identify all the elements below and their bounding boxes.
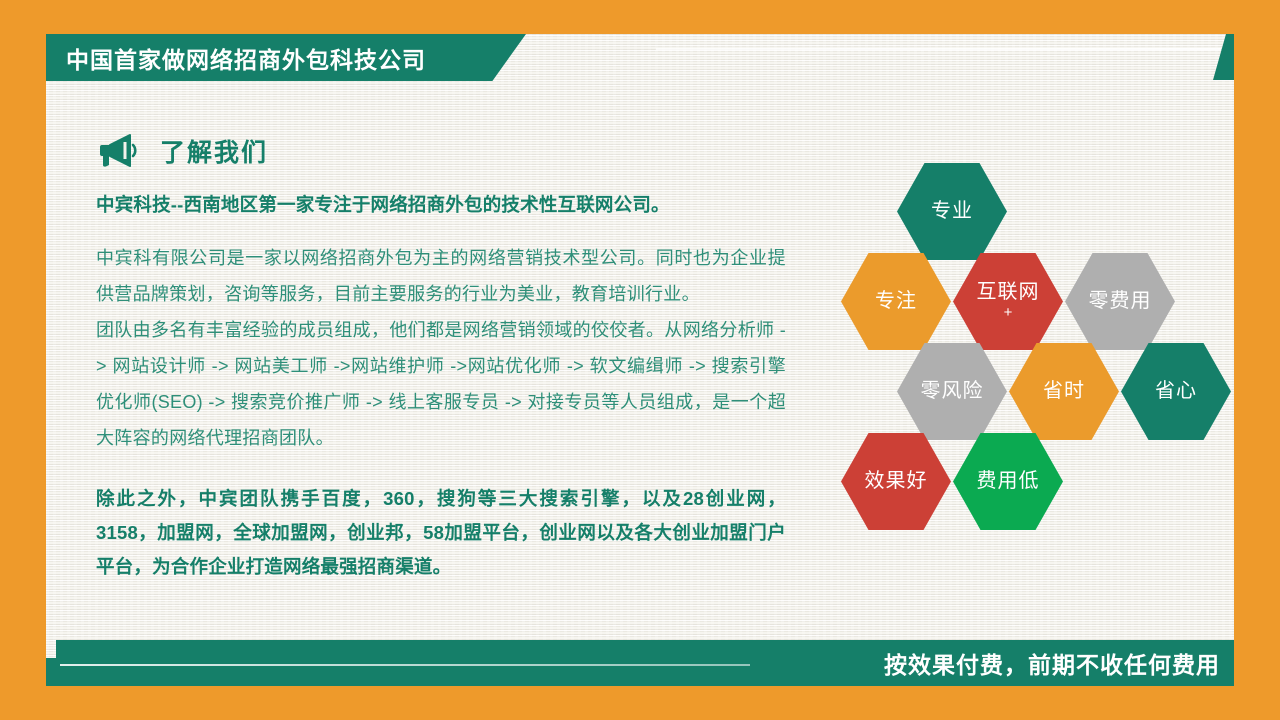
hexagon-2: 互联网+ bbox=[953, 253, 1063, 350]
hexagon-label: 费用低 bbox=[977, 471, 1040, 493]
lead-statement: 中宾科技--西南地区第一家专注于网络招商外包的技术性互联网公司。 bbox=[96, 192, 786, 218]
slide-root: 中国首家做网络招商外包科技公司 了解我们 中宾科技--西南地区第一家专注于网络招… bbox=[0, 0, 1280, 720]
hexagon-label: 省时 bbox=[1043, 381, 1085, 403]
hexagon-1: 专注 bbox=[841, 253, 951, 350]
hexagon-label: 专注 bbox=[875, 291, 917, 313]
hexagon-sublabel: + bbox=[1004, 305, 1013, 321]
hexagon-5: 省时 bbox=[1009, 343, 1119, 440]
footer-tagline: 按效果付费，前期不收任何费用 bbox=[884, 646, 1220, 680]
hexagon-label: 零风险 bbox=[921, 381, 984, 403]
paragraph-company-overview: 中宾科有限公司是一家以网络招商外包为主的网络营销技术型公司。同时也为企业提供营品… bbox=[96, 240, 786, 312]
hexagon-label: 效果好 bbox=[865, 471, 928, 493]
footer-hairline bbox=[60, 664, 750, 666]
hexagon-label: 专业 bbox=[931, 201, 973, 223]
hexagon-label: 省心 bbox=[1155, 381, 1197, 403]
advantage-hexagon-cluster: 专业专注互联网+零费用零风险省时省心效果好费用低 bbox=[836, 155, 1236, 535]
page-title: 中国首家做网络招商外包科技公司 bbox=[66, 41, 426, 75]
hexagon-label: 互联网 bbox=[977, 282, 1040, 304]
hexagon-4: 零风险 bbox=[897, 343, 1007, 440]
paragraph-partner-channels: 除此之外，中宾团队携手百度，360，搜狗等三大搜索引擎，以及28创业网，3158… bbox=[96, 482, 786, 584]
about-content: 中宾科技--西南地区第一家专注于网络招商外包的技术性互联网公司。 中宾科有限公司… bbox=[96, 192, 786, 584]
hexagon-3: 零费用 bbox=[1065, 253, 1175, 350]
megaphone-icon bbox=[94, 134, 138, 168]
header-hairline bbox=[656, 48, 1221, 50]
hexagon-7: 效果好 bbox=[841, 433, 951, 530]
section-heading: 了解我们 bbox=[94, 133, 268, 169]
hexagon-label: 零费用 bbox=[1089, 291, 1152, 313]
paragraph-team-composition: 团队由多名有丰富经验的成员组成，他们都是网络营销领域的佼佼者。从网络分析师 ->… bbox=[96, 312, 786, 456]
hexagon-0: 专业 bbox=[897, 163, 1007, 260]
section-title: 了解我们 bbox=[160, 133, 268, 169]
header-title-box: 中国首家做网络招商外包科技公司 bbox=[46, 34, 526, 81]
hexagon-6: 省心 bbox=[1121, 343, 1231, 440]
hexagon-8: 费用低 bbox=[953, 433, 1063, 530]
